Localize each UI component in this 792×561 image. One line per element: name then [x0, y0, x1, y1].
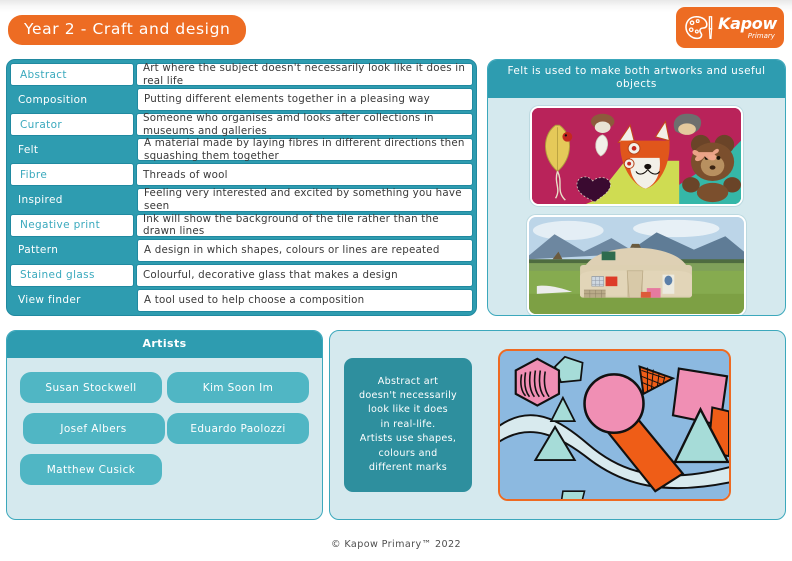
vocab-term: Curator [10, 113, 134, 136]
table-row: Inspired Feeling very interested and exc… [9, 187, 474, 212]
table-row: Felt A material made by laying fibres in… [9, 137, 474, 162]
vocabulary-table: Abstract Art where the subject doesn't n… [6, 59, 477, 316]
list-item[interactable]: Kim Soon Im [167, 372, 309, 403]
vocab-term: Abstract [10, 63, 134, 86]
slide-page: Year 2 - Craft and design Kapow Primary … [0, 0, 792, 561]
abstract-definition-card: Abstract art doesn't necessarily look li… [344, 358, 472, 492]
artists-list: Susan Stockwell Kim Soon Im Josef Albers… [7, 358, 322, 485]
vocab-term: View finder [9, 288, 135, 313]
vocab-term: Fibre [10, 163, 134, 186]
vocab-definition: Ink will show the background of the tile… [136, 214, 473, 237]
vocab-definition: Putting different elements together in a… [137, 88, 473, 111]
vocab-definition: A material made by laying fibres in diff… [137, 138, 473, 161]
logo-sub-text: Primary [748, 33, 775, 40]
kapow-logo: Kapow Primary [676, 7, 784, 48]
vocab-term: Inspired [9, 187, 135, 212]
table-row: Curator Someone who organises amd looks … [9, 112, 474, 137]
vocab-definition: A design in which shapes, colours or lin… [137, 239, 473, 262]
table-row: Stained glass Colourful, decorative glas… [9, 263, 474, 288]
table-row: Abstract Art where the subject doesn't n… [9, 62, 474, 87]
abstract-shapes-artwork [498, 349, 731, 501]
felt-info-panel: Felt is used to make both artworks and u… [487, 59, 786, 316]
vocab-term: Negative print [10, 214, 134, 237]
vocab-definition: Threads of wool [136, 163, 473, 186]
vocab-definition: Feeling very interested and excited by s… [137, 188, 473, 211]
list-item[interactable]: Josef Albers [23, 413, 165, 444]
vocab-term: Felt [9, 137, 135, 162]
table-row: Composition Putting different elements t… [9, 87, 474, 112]
vocab-definition: Colourful, decorative glass that makes a… [136, 264, 473, 287]
table-row: Pattern A design in which shapes, colour… [9, 238, 474, 263]
list-item[interactable]: Matthew Cusick [20, 454, 162, 485]
table-row: Fibre Threads of wool [9, 162, 474, 187]
vocab-term: Composition [9, 87, 135, 112]
list-item[interactable]: Eduardo Paolozzi [167, 413, 309, 444]
palette-brush-icon [684, 15, 714, 41]
artists-panel-heading: Artists [7, 331, 322, 358]
felt-craft-animals-photo [530, 106, 743, 206]
logo-brand-text: Kapow [718, 16, 777, 32]
vocab-definition: Someone who organises amd looks after co… [136, 113, 473, 136]
list-item[interactable]: Susan Stockwell [20, 372, 162, 403]
table-row: View finder A tool used to help choose a… [9, 288, 474, 313]
copyright-footer: © Kapow Primary™ 2022 [0, 539, 792, 550]
vocab-definition: Art where the subject doesn't necessaril… [136, 63, 473, 86]
vocab-term: Stained glass [10, 264, 134, 287]
vocab-term: Pattern [9, 238, 135, 263]
abstract-art-panel: Abstract art doesn't necessarily look li… [329, 330, 786, 520]
artists-panel: Artists Susan Stockwell Kim Soon Im Jose… [6, 330, 323, 520]
page-title: Year 2 - Craft and design [8, 15, 246, 45]
vocab-definition: A tool used to help choose a composition [137, 289, 473, 312]
felt-yurt-photo [527, 215, 746, 316]
table-row: Negative print Ink will show the backgro… [9, 213, 474, 238]
felt-panel-heading: Felt is used to make both artworks and u… [488, 60, 785, 98]
